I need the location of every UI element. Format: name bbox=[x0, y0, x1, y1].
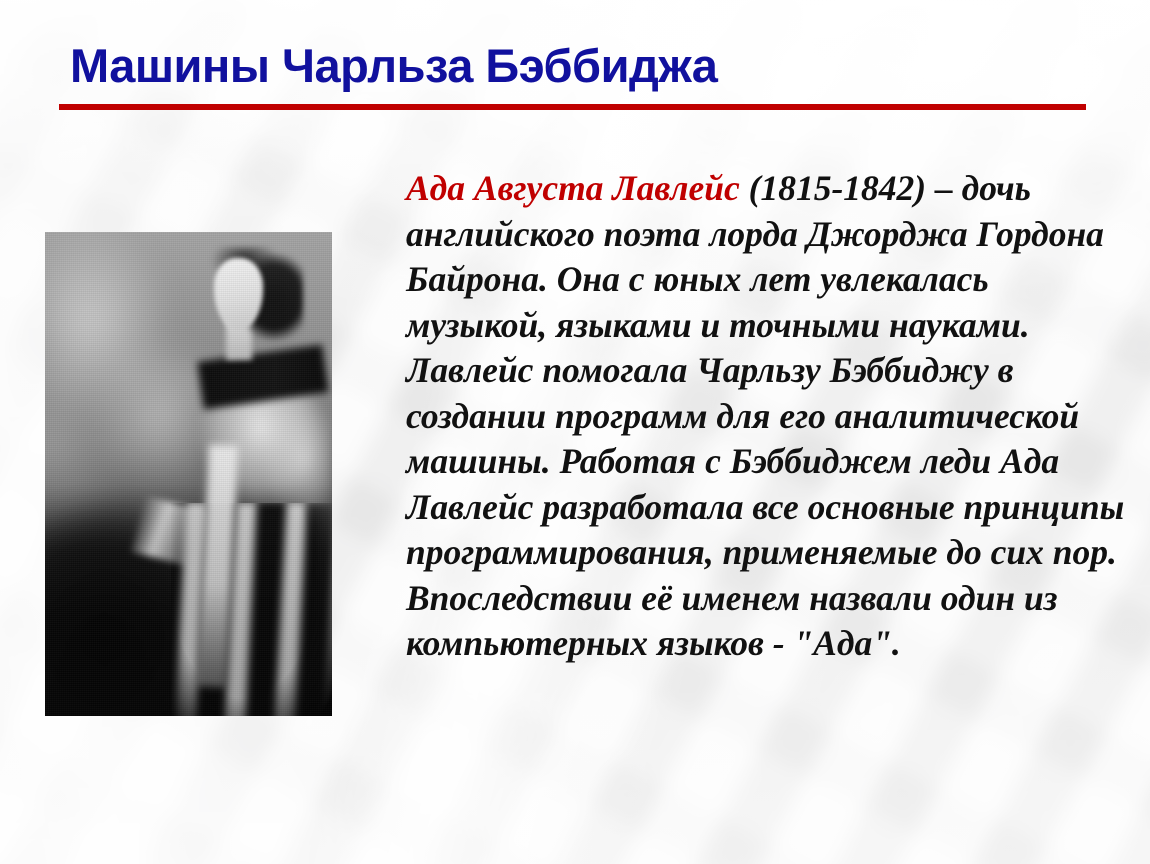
ada-lovelace-portrait bbox=[45, 232, 332, 716]
person-description: дочь английского поэта лорда Джорджа Гор… bbox=[406, 168, 1124, 663]
slide-body-text: Ада Августа Лавлейс (1815-1842) – дочь а… bbox=[406, 166, 1128, 667]
portrait-contrast-overlay bbox=[45, 232, 332, 716]
title-underline-rule bbox=[59, 104, 1086, 110]
person-lifespan: (1815-1842) – bbox=[740, 168, 953, 208]
person-name: Ада Августа Лавлейс bbox=[406, 168, 740, 208]
biography-paragraph: Ада Августа Лавлейс (1815-1842) – дочь а… bbox=[406, 166, 1128, 667]
slide-title: Машины Чарльза Бэббиджа bbox=[70, 38, 717, 94]
presentation-slide: Машины Чарльза Бэббиджа Ада Августа Лавл… bbox=[0, 0, 1150, 864]
